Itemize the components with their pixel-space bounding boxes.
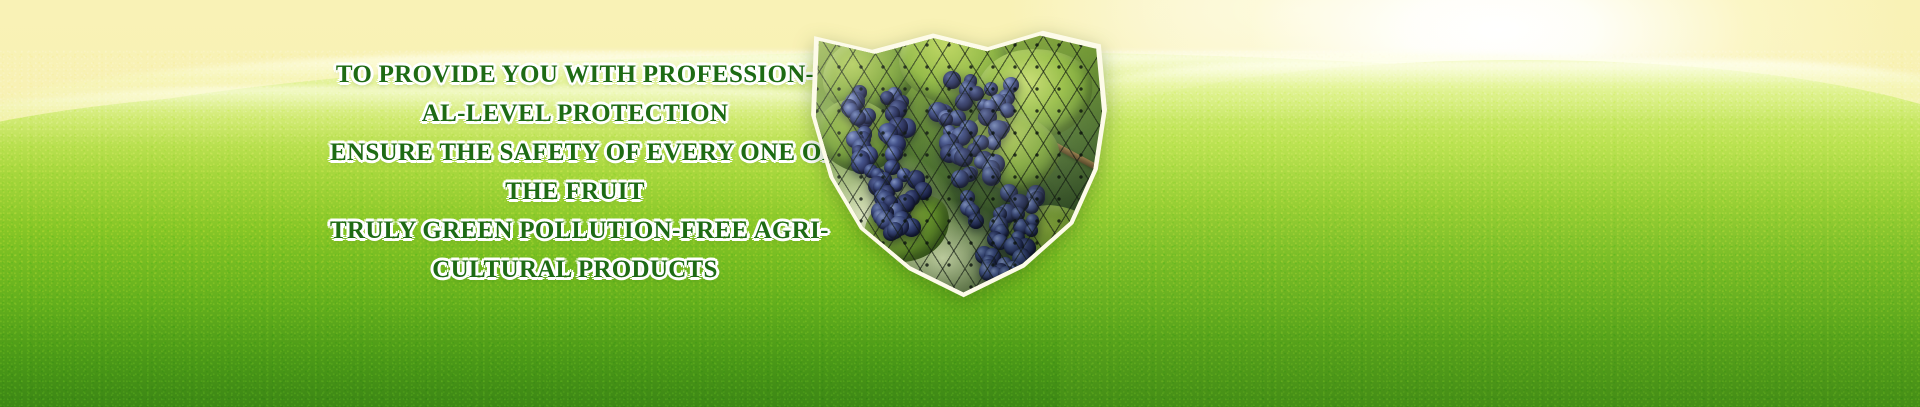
headline-line-4: THE FRUIT [330,172,820,211]
vineyard-photo [810,33,1105,295]
headline-line-1: TO PROVIDE YOU WITH PROFESSION- [330,55,820,94]
grape [1000,103,1015,118]
grass-hill-right-highlight [1020,60,1920,122]
grape [850,110,866,126]
grape [887,222,903,238]
headline-text: TO PROVIDE YOU WITH PROFESSION- AL-LEVEL… [330,55,820,289]
grape [1025,224,1038,237]
headline-line-3: ENSURE THE SAFETY OF EVERY ONE OF [330,133,820,172]
grape [955,93,973,111]
headline-line-6: CULTURAL PRODUCTS [330,250,820,289]
grape [943,71,961,89]
grape-cluster [866,165,930,245]
grape [954,148,974,168]
grape [968,213,984,229]
headline-line-5: TRULY GREEN POLLUTION-FREE AGRI- [330,211,820,250]
shield-emblem [805,28,1110,300]
grape-cluster [960,183,1046,287]
headline-line-2: AL-LEVEL PROTECTION [330,94,820,133]
grape-cluster [928,71,1020,189]
hero-banner: TO PROVIDE YOU WITH PROFESSION- AL-LEVEL… [0,0,1920,407]
